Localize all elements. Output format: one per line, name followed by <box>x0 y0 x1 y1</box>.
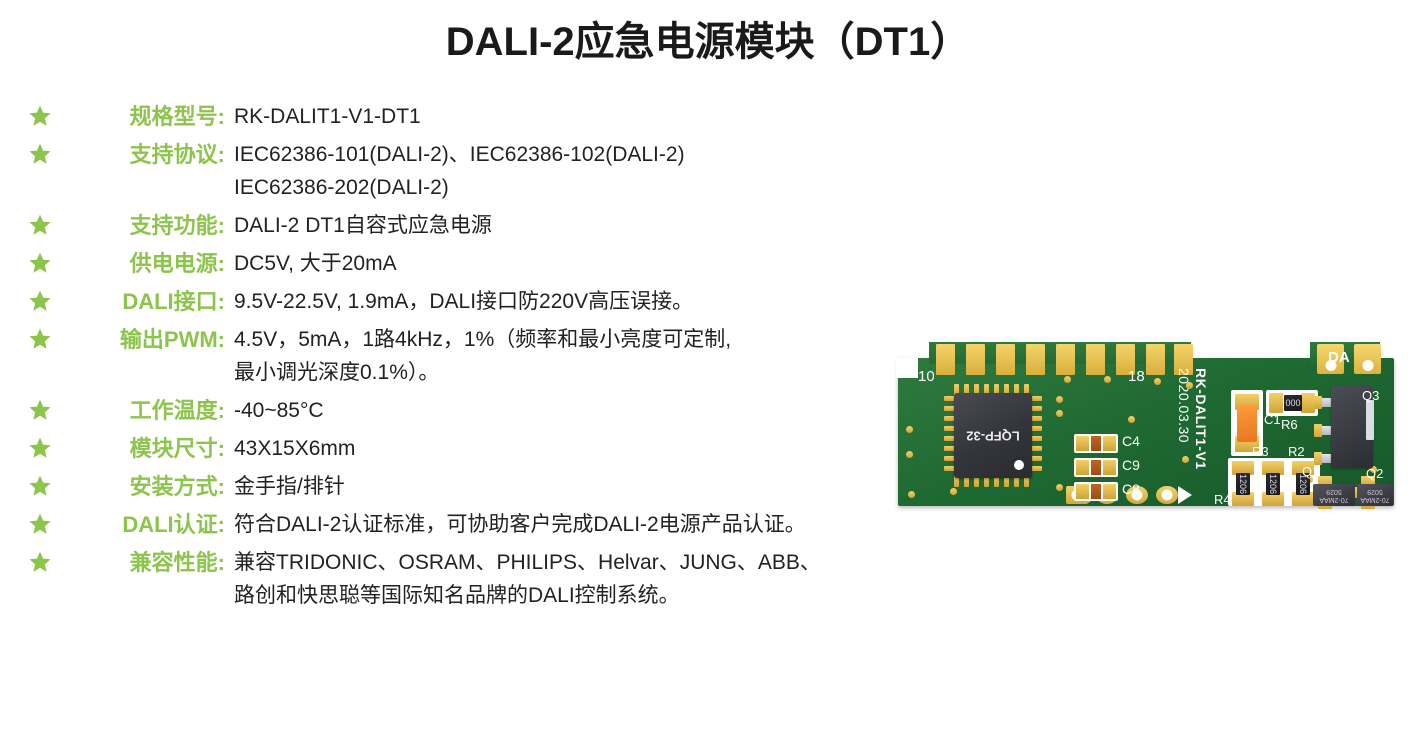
spec-value-line: 最小调光深度0.1%）。 <box>234 356 908 389</box>
spec-value-line: DALI-2 DT1自容式应急电源 <box>234 214 492 237</box>
pcb-notch <box>896 358 918 378</box>
spec-value-line: -40~85°C <box>234 399 324 422</box>
silkscreen-connector: DA <box>1328 349 1350 366</box>
capacitor-label: C9 <box>1122 457 1140 473</box>
capacitor <box>1074 482 1118 501</box>
spec-row: 规格型号: RK-DALIT1-V1-DT1 <box>28 100 908 133</box>
spec-label: 模块尺寸: <box>62 432 234 465</box>
silkscreen-pin-right: 18 <box>1128 368 1145 385</box>
spec-label: 供电电源: <box>62 247 234 280</box>
pcb-board-image: DA 10 18 RK-DALIT1-V1 2020.03.30 <box>896 316 1396 516</box>
star-icon <box>28 247 62 275</box>
silkscreen-ref-q2: Q2 <box>1366 466 1383 481</box>
silkscreen-ref-c1: C1 <box>1264 412 1281 427</box>
capacitor-label: C8 <box>1122 481 1140 497</box>
spec-value: -40~85°C <box>234 394 908 427</box>
spec-value-line: 路创和快思聪等国际知名品牌的DALI控制系统。 <box>234 579 908 612</box>
product-spec-page: DALI-2应急电源模块（DT1） 规格型号: RK-DALIT1-V1-DT1… <box>0 0 1416 750</box>
spec-row: 工作温度: -40~85°C <box>28 394 908 427</box>
silkscreen-ref-q3: Q3 <box>1362 388 1379 403</box>
gold-finger <box>996 344 1015 375</box>
spec-list: 规格型号: RK-DALIT1-V1-DT1 支持协议: IEC62386-10… <box>28 100 908 617</box>
chip-label: LQFP-32 <box>966 428 1019 443</box>
spec-row: DALI接口: 9.5V-22.5V, 1.9mA，DALI接口防220V高压误… <box>28 285 908 318</box>
spec-value-line: IEC62386-202(DALI-2) <box>234 171 908 204</box>
spec-value: 金手指/排针 <box>234 470 908 503</box>
spec-value: 43X15X6mm <box>234 432 908 465</box>
spec-value: 符合DALI-2认证标准，可协助客户完成DALI-2电源产品认证。 <box>234 508 908 541</box>
chip-pin1-dot <box>1014 460 1024 470</box>
spec-value-line: 43X15X6mm <box>234 437 355 460</box>
silkscreen-ref-q1: Q1 <box>1302 464 1319 479</box>
component-r6: 000 <box>1284 395 1302 411</box>
lqfp32-chip: LQFP-32 <box>954 393 1032 478</box>
silkscreen-ref-r2: R2 <box>1288 444 1305 459</box>
spec-label: 安装方式: <box>62 470 234 503</box>
spec-value: DC5V, 大于20mA <box>234 247 908 280</box>
capacitor <box>1074 434 1118 453</box>
silkscreen-pin-left: 10 <box>918 368 935 385</box>
gold-finger <box>1086 344 1105 375</box>
star-icon <box>28 323 62 351</box>
spec-value-line: IEC62386-101(DALI-2)、IEC62386-102(DALI-2… <box>234 143 685 166</box>
capacitor-label: C4 <box>1122 433 1140 449</box>
silkscreen-board-name: RK-DALIT1-V1 <box>1193 368 1209 470</box>
spec-row: DALI认证: 符合DALI-2认证标准，可协助客户完成DALI-2电源产品认证… <box>28 508 908 541</box>
silkscreen-ref-r4: R4 <box>1214 492 1231 507</box>
component-q1: 70-2MAA5029 <box>1313 484 1355 506</box>
spec-value: DALI-2 DT1自容式应急电源 <box>234 209 908 242</box>
silkscreen-ref-r6: R6 <box>1281 417 1298 432</box>
silkscreen-ref-r3: R3 <box>1252 444 1269 459</box>
spec-row: 支持功能: DALI-2 DT1自容式应急电源 <box>28 209 908 242</box>
spec-value-line: RK-DALIT1-V1-DT1 <box>234 105 421 128</box>
spec-value: IEC62386-101(DALI-2)、IEC62386-102(DALI-2… <box>234 138 908 204</box>
gold-finger <box>966 344 985 375</box>
spec-label: 支持协议: <box>62 138 234 171</box>
spec-row: 供电电源: DC5V, 大于20mA <box>28 247 908 280</box>
spec-value: 兼容TRIDONIC、OSRAM、PHILIPS、Helvar、JUNG、ABB… <box>234 546 908 612</box>
star-icon <box>28 470 62 498</box>
spec-value: RK-DALIT1-V1-DT1 <box>234 100 908 133</box>
capacitor <box>1074 458 1118 477</box>
spec-value-line: 兼容TRIDONIC、OSRAM、PHILIPS、Helvar、JUNG、ABB… <box>234 551 821 574</box>
spec-value-line: 4.5V，5mA，1路4kHz，1%（频率和最小亮度可定制, <box>234 328 731 351</box>
spec-row: 输出PWM: 4.5V，5mA，1路4kHz，1%（频率和最小亮度可定制, 最小… <box>28 323 908 389</box>
spec-row: 支持协议: IEC62386-101(DALI-2)、IEC62386-102(… <box>28 138 908 204</box>
star-icon <box>28 508 62 536</box>
spec-row: 安装方式: 金手指/排针 <box>28 470 908 503</box>
spec-label: 支持功能: <box>62 209 234 242</box>
spec-value-line: 金手指/排针 <box>234 475 345 498</box>
component-q2: 70-2MAA5029 <box>1357 484 1393 506</box>
star-icon <box>28 432 62 460</box>
spec-row: 兼容性能: 兼容TRIDONIC、OSRAM、PHILIPS、Helvar、JU… <box>28 546 908 612</box>
star-icon <box>28 394 62 422</box>
spec-label: 规格型号: <box>62 100 234 133</box>
spec-value: 4.5V，5mA，1路4kHz，1%（频率和最小亮度可定制, 最小调光深度0.1… <box>234 323 908 389</box>
spec-label: 工作温度: <box>62 394 234 427</box>
page-title: DALI-2应急电源模块（DT1） <box>0 14 1416 70</box>
polarity-marker-icon <box>1178 486 1192 504</box>
spec-label: 输出PWM: <box>62 323 234 356</box>
spec-label: DALI认证: <box>62 508 234 541</box>
component-r3: 1206 <box>1266 473 1280 495</box>
spec-label: 兼容性能: <box>62 546 234 579</box>
gold-finger <box>936 344 955 375</box>
spec-value-line: DC5V, 大于20mA <box>234 252 397 275</box>
component-c1 <box>1237 406 1257 442</box>
silkscreen-board-date: 2020.03.30 <box>1176 368 1192 443</box>
spec-value: 9.5V-22.5V, 1.9mA，DALI接口防220V高压误接。 <box>234 285 908 318</box>
star-icon <box>28 546 62 574</box>
star-icon <box>28 100 62 128</box>
da-pad <box>1354 344 1381 374</box>
spec-label: DALI接口: <box>62 285 234 318</box>
spec-value-line: 9.5V-22.5V, 1.9mA，DALI接口防220V高压误接。 <box>234 290 693 313</box>
gold-finger <box>1026 344 1045 375</box>
gold-finger <box>1146 344 1165 375</box>
star-icon <box>28 209 62 237</box>
star-icon <box>28 138 62 166</box>
gold-finger <box>1056 344 1075 375</box>
star-icon <box>28 285 62 313</box>
component-r4: 1206 <box>1236 473 1250 495</box>
spec-value-line: 符合DALI-2认证标准，可协助客户完成DALI-2电源产品认证。 <box>234 513 806 536</box>
mount-via <box>1156 486 1178 504</box>
spec-row: 模块尺寸: 43X15X6mm <box>28 432 908 465</box>
